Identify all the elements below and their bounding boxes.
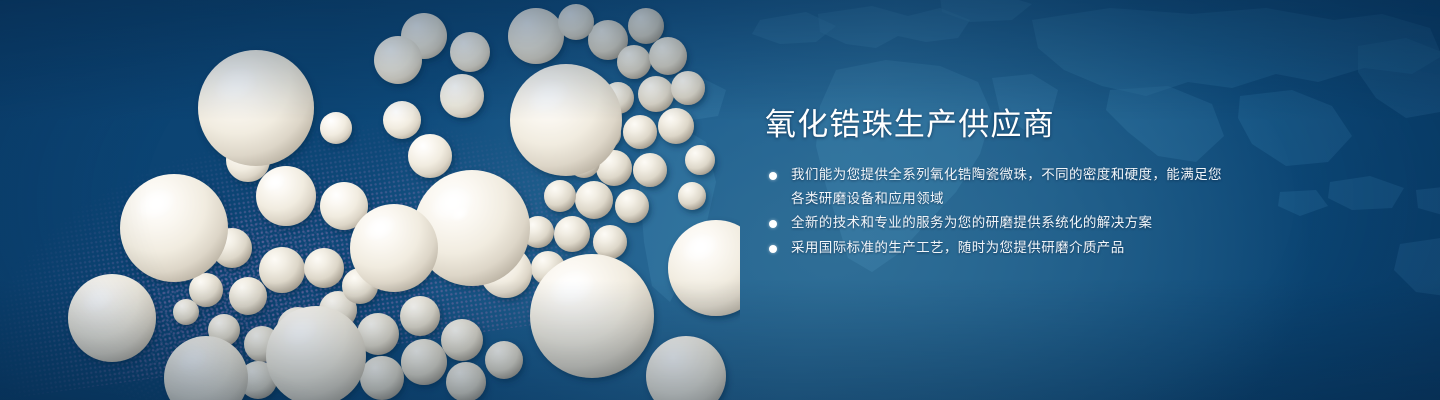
page-title: 氧化锆珠生产供应商	[765, 104, 1225, 146]
list-item-label: 采用国际标准的生产工艺，随时为您提供研磨介质产品	[791, 240, 1125, 256]
filled-circle-bullet-icon	[769, 245, 777, 253]
feature-list: 我们能为您提供全系列氧化锆陶瓷微珠，不同的密度和硬度，能满足您各类研磨设备和应用…	[765, 164, 1225, 260]
hero-banner: 氧化锆珠生产供应商 我们能为您提供全系列氧化锆陶瓷微珠，不同的密度和硬度，能满足…	[0, 0, 1440, 400]
banner-copy: 氧化锆珠生产供应商 我们能为您提供全系列氧化锆陶瓷微珠，不同的密度和硬度，能满足…	[765, 104, 1225, 261]
filled-circle-bullet-icon	[769, 172, 777, 180]
list-item: 全新的技术和专业的服务为您的研磨提供系统化的解决方案	[765, 212, 1225, 236]
filled-circle-bullet-icon	[769, 220, 777, 228]
list-item-label: 全新的技术和专业的服务为您的研磨提供系统化的解决方案	[791, 215, 1152, 231]
list-item-label: 我们能为您提供全系列氧化锆陶瓷微珠，不同的密度和硬度，能满足您各类研磨设备和应用…	[791, 167, 1222, 207]
list-item: 我们能为您提供全系列氧化锆陶瓷微珠，不同的密度和硬度，能满足您各类研磨设备和应用…	[765, 164, 1225, 211]
list-item: 采用国际标准的生产工艺，随时为您提供研磨介质产品	[765, 237, 1225, 261]
